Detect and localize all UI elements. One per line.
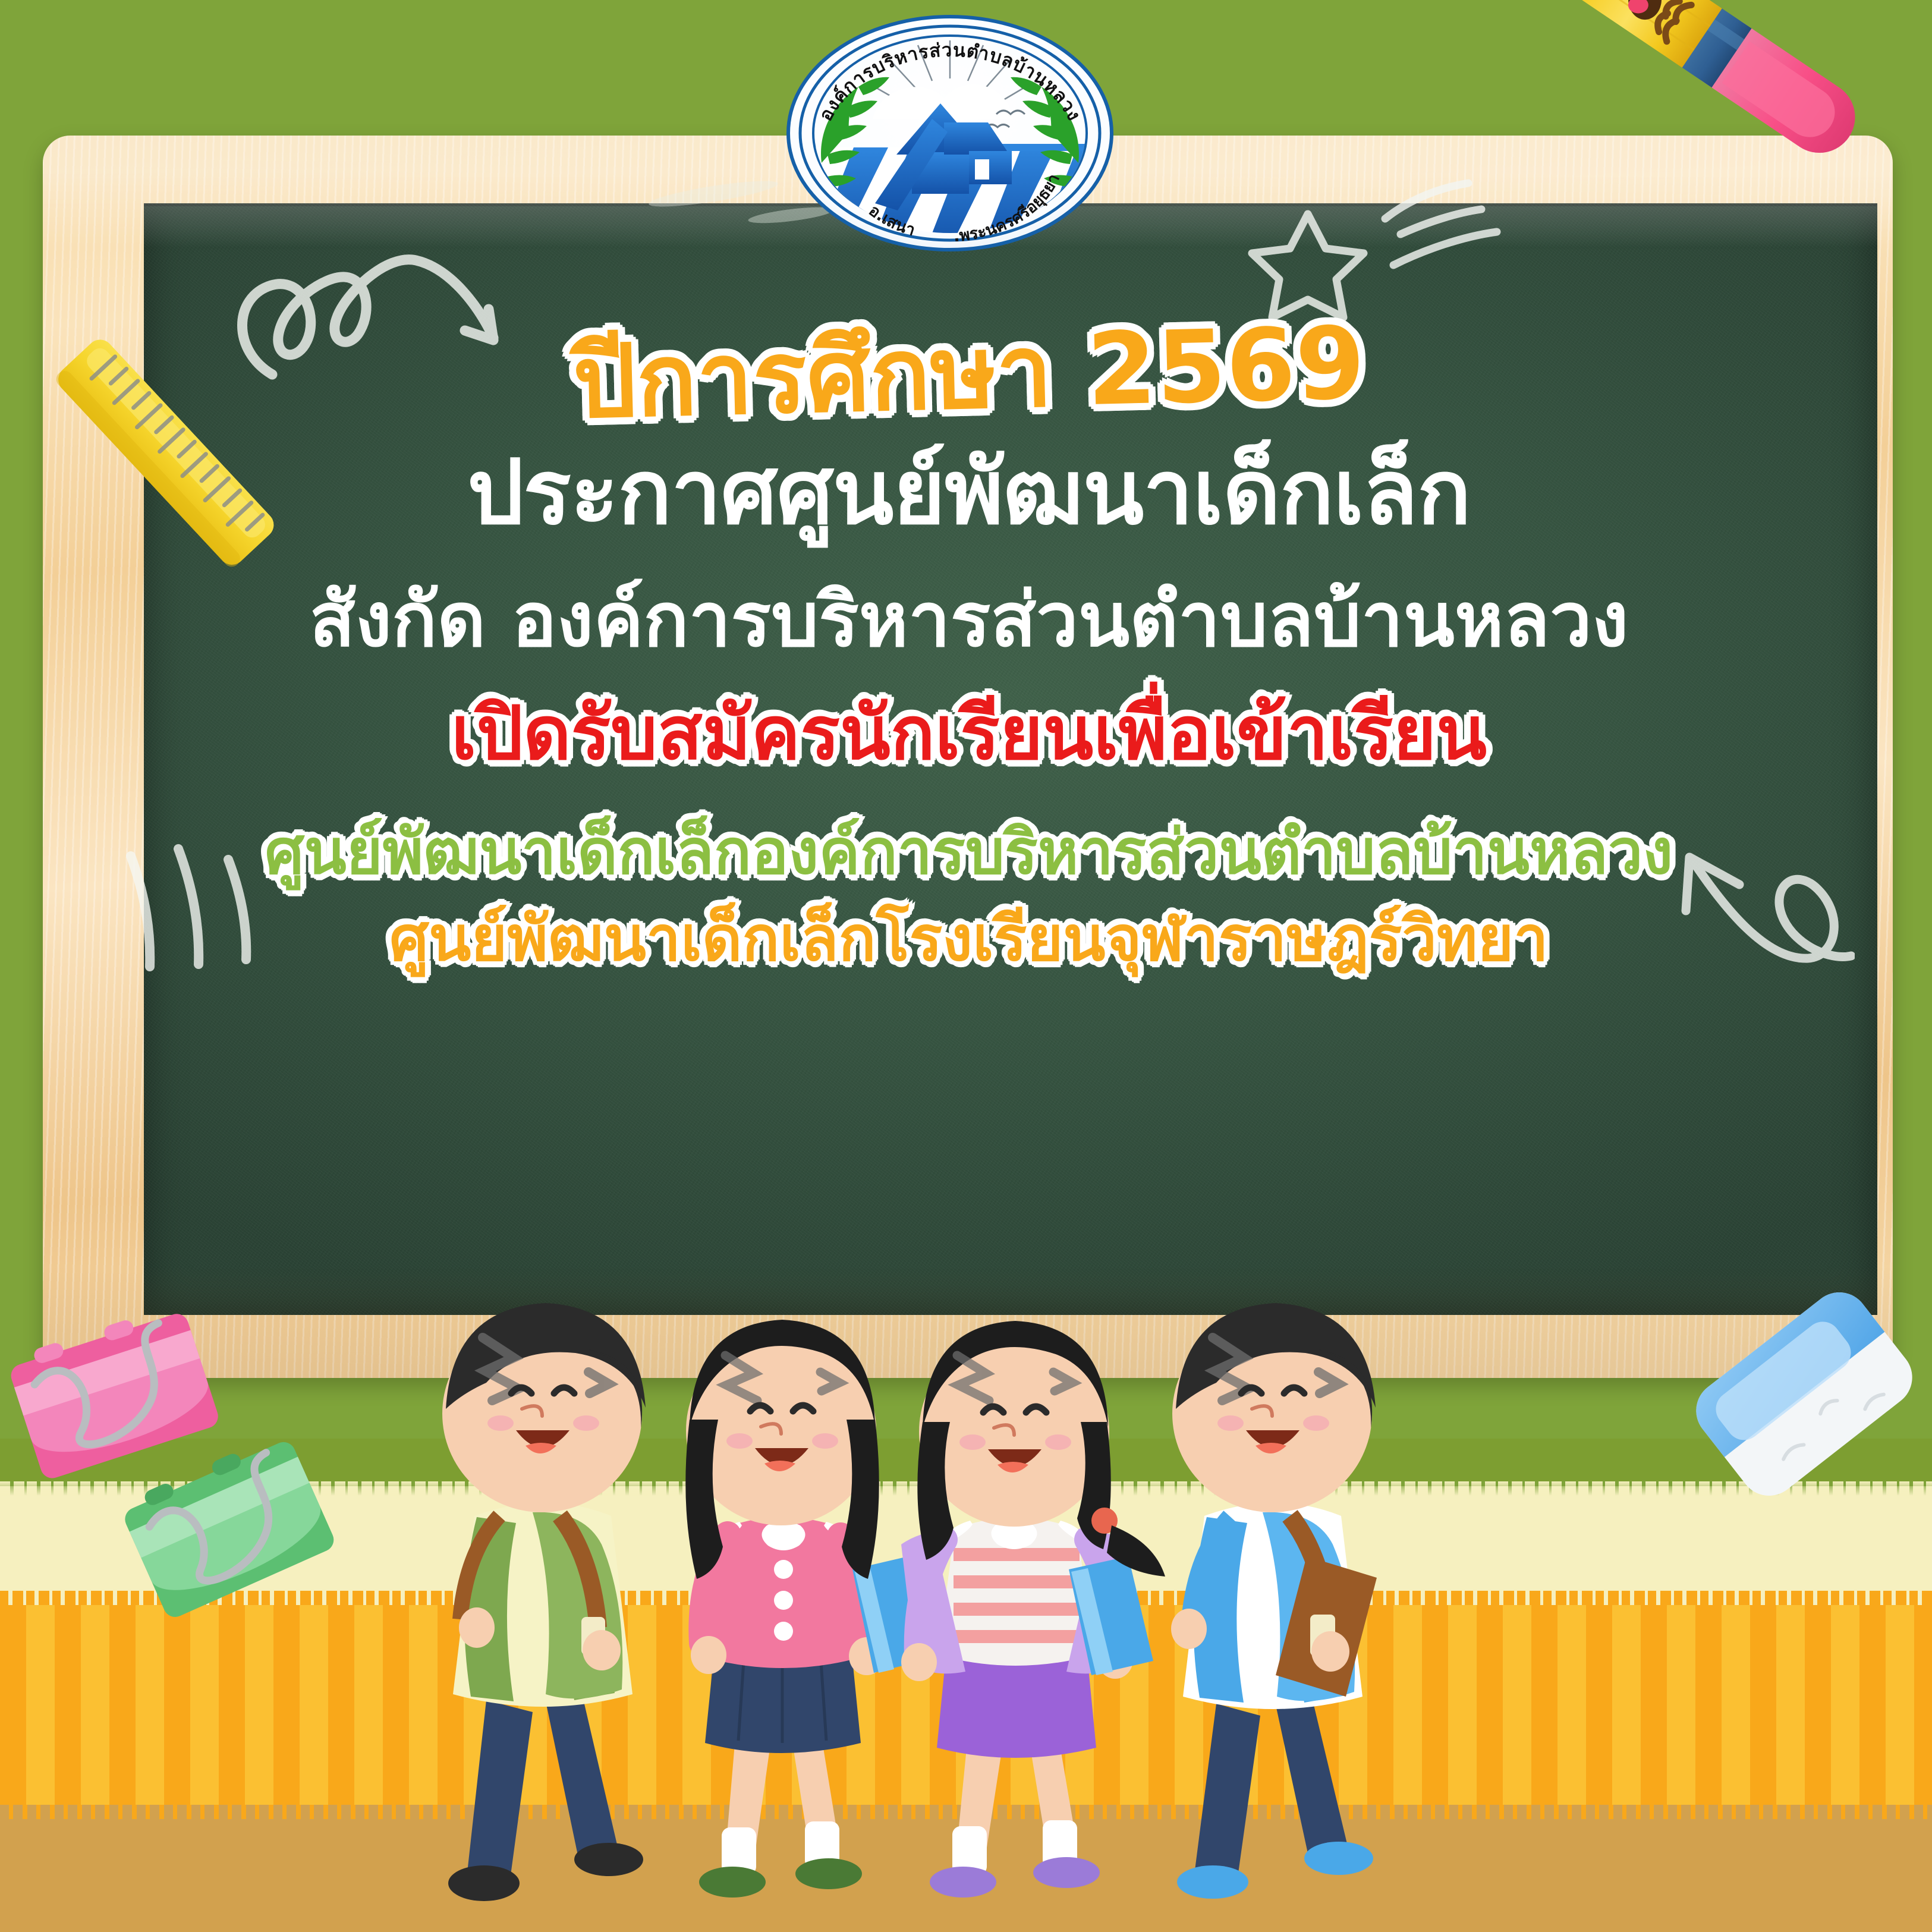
poster-root: องค์การบริหารส่วนตำบลบ้านหลวง อ.เสนา จ.พ… bbox=[0, 0, 1932, 1932]
affiliation-line: สังกัด องค์การบริหารส่วนตำบลบ้านหลวง bbox=[149, 581, 1789, 659]
call-to-action-line: เปิดรับสมัครนักเรียนเพื่อเข้าเรียน bbox=[149, 696, 1789, 772]
pencil-character-prop bbox=[1427, 0, 1914, 452]
kid-boy-green bbox=[442, 1303, 646, 1901]
kid-girl-purple bbox=[901, 1321, 1165, 1898]
center-name-line-1: ศูนย์พัฒนาเด็กเล็กองค์การบริหารส่วนตำบลบ… bbox=[149, 820, 1789, 884]
ruler-prop bbox=[12, 297, 321, 606]
kids-group bbox=[410, 1260, 1528, 1932]
announce-line: ประกาศศูนย์พัฒนาเด็กเล็ก bbox=[149, 446, 1789, 539]
eraser-prop bbox=[1664, 1254, 1932, 1534]
kid-girl-pink bbox=[685, 1320, 932, 1898]
center-name-line-2: ศูนย์พัฒนาเด็กเล็กโรงเรียนจุฬาราษฎร์วิทย… bbox=[149, 907, 1789, 971]
school-bag-green-prop bbox=[113, 1427, 351, 1629]
kid-boy-blue bbox=[1171, 1303, 1377, 1899]
organization-seal: องค์การบริหารส่วนตำบลบ้านหลวง อ.เสนา จ.พ… bbox=[748, 14, 1152, 252]
